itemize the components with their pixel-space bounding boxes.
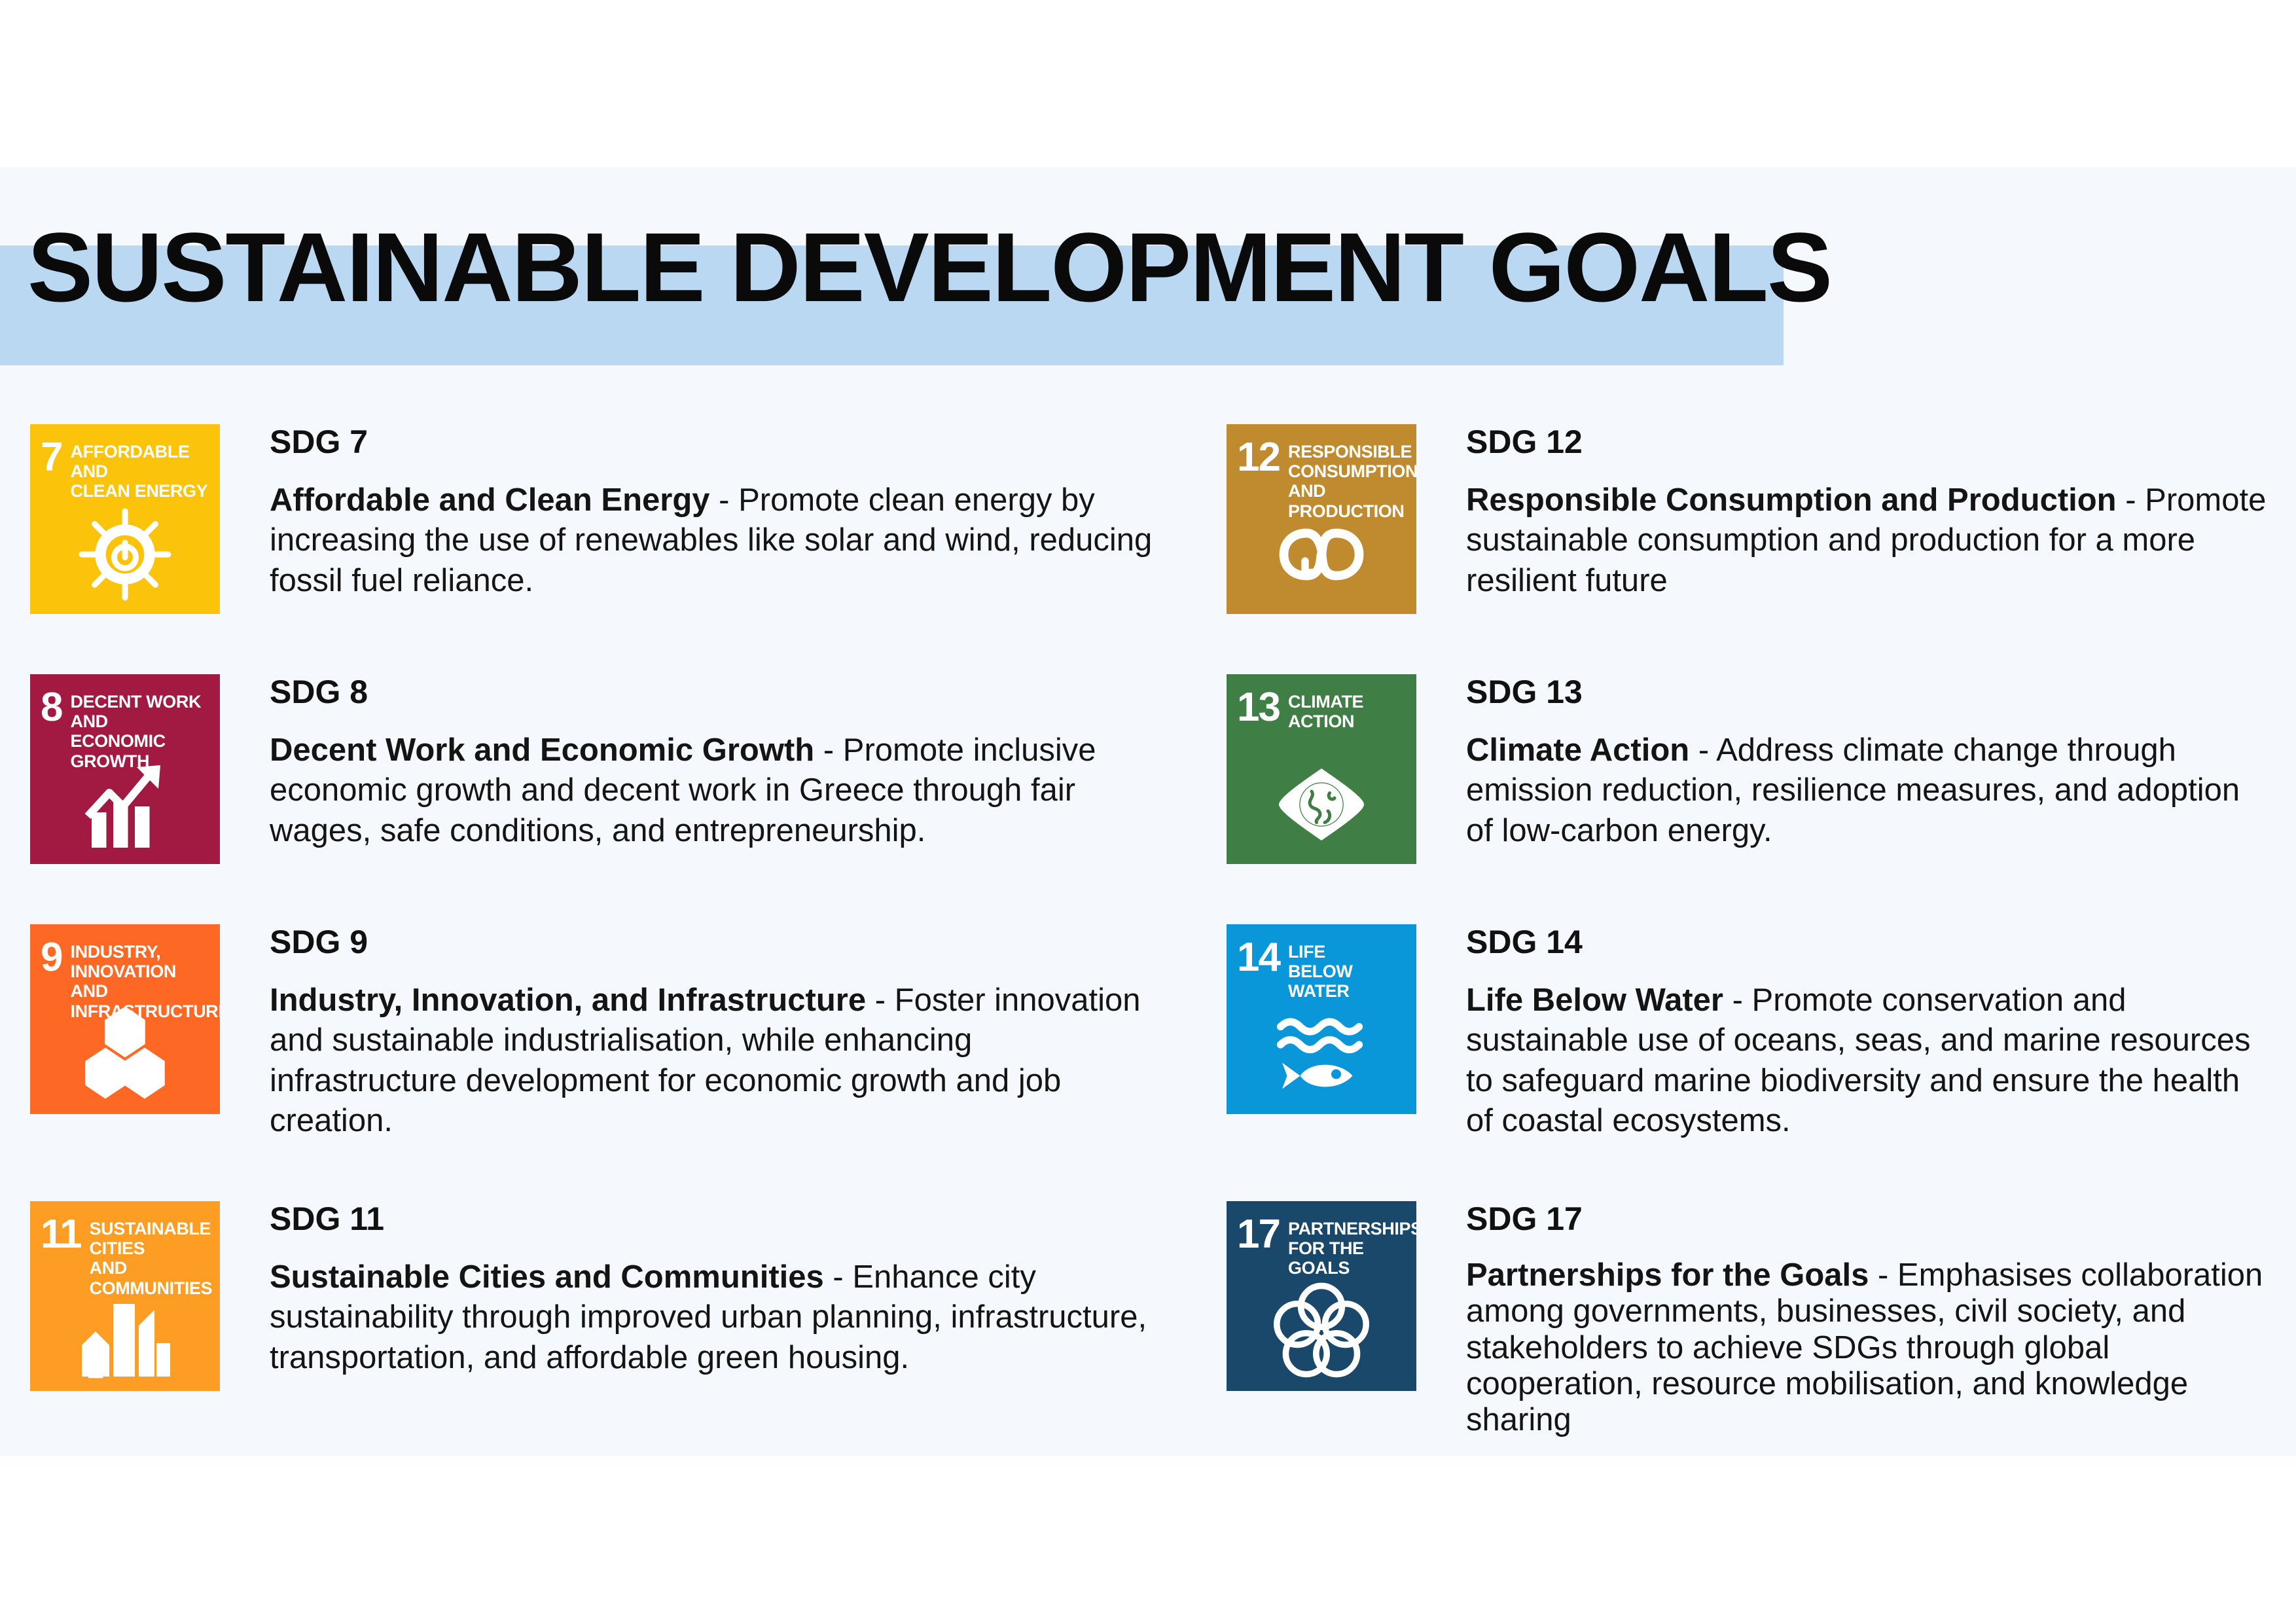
goal-row: 9INDUSTRY, INNOVATION AND INFRASTRUCTURE…: [30, 924, 1156, 1141]
sun-power-icon: [30, 505, 220, 604]
goal-separator: -: [824, 1259, 853, 1295]
goal-separator: -: [2117, 482, 2145, 518]
goal-name: Industry, Innovation, and Infrastructure: [270, 983, 866, 1018]
sdg-icon-number: 17: [1237, 1216, 1280, 1253]
goal-text-block: SDG 14Life Below Water - Promote conserv…: [1416, 924, 2274, 1141]
goal-column-left: 7AFFORDABLE AND CLEAN ENERGY SDG 7Afford…: [30, 424, 1156, 1391]
goal-id: SDG 12: [1466, 425, 2274, 458]
sdg-icon-number: 8: [41, 689, 62, 726]
goal-row: 14LIFE BELOW WATER SDG 14Life Below Wate…: [1227, 924, 2274, 1141]
goal-separator: -: [1723, 983, 1752, 1018]
slide-canvas: SUSTAINABLE DEVELOPMENT GOALS 7AFFORDABL…: [0, 167, 2296, 1456]
sdg-icon-header: 13CLIMATE ACTION: [1237, 689, 1363, 731]
goal-description: Partnerships for the Goals - Emphasises …: [1466, 1257, 2274, 1439]
goal-name: Affordable and Clean Energy: [270, 482, 710, 518]
goal-separator: -: [866, 983, 895, 1018]
sdg-icon-tile-17[interactable]: 17PARTNERSHIPS FOR THE GOALS: [1227, 1201, 1416, 1391]
cubes-icon: [30, 1005, 220, 1104]
goal-name: Life Below Water: [1466, 983, 1723, 1018]
sdg-icon-number: 7: [41, 439, 62, 476]
goal-row: 17PARTNERSHIPS FOR THE GOALS SDG 17Partn…: [1227, 1201, 2274, 1439]
interlocking-rings-icon: [1227, 1282, 1416, 1380]
sdg-icon-label: LIFE BELOW WATER: [1288, 939, 1416, 1001]
goal-row: 8DECENT WORK AND ECONOMIC GROWTH SDG 8De…: [30, 674, 1156, 864]
goal-description: Affordable and Clean Energy - Promote cl…: [270, 480, 1156, 601]
sdg-icon-tile-8[interactable]: 8DECENT WORK AND ECONOMIC GROWTH: [30, 674, 220, 864]
sdg-icon-label: PARTNERSHIPS FOR THE GOALS: [1288, 1216, 1416, 1278]
growth-chart-icon: [30, 755, 220, 854]
goal-id: SDG 17: [1466, 1202, 2274, 1235]
sdg-icon-tile-14[interactable]: 14LIFE BELOW WATER: [1227, 924, 1416, 1114]
goal-row: 13CLIMATE ACTION SDG 13Climate Action - …: [1227, 674, 2274, 864]
goal-description: Industry, Innovation, and Infrastructure…: [270, 981, 1156, 1141]
goal-text-block: SDG 9Industry, Innovation, and Infrastru…: [220, 924, 1156, 1141]
goal-row: 11SUSTAINABLE CITIES AND COMMUNITIES SDG…: [30, 1201, 1156, 1391]
sdg-icon-number: 14: [1237, 939, 1280, 976]
goal-text-block: SDG 12Responsible Consumption and Produc…: [1416, 424, 2274, 601]
goal-description: Responsible Consumption and Production -…: [1466, 480, 2274, 601]
sdg-icon-header: 7AFFORDABLE AND CLEAN ENERGY: [41, 439, 220, 501]
goal-row: 7AFFORDABLE AND CLEAN ENERGY SDG 7Afford…: [30, 424, 1156, 614]
goal-description: Life Below Water - Promote conservation …: [1466, 981, 2274, 1141]
goal-separator: -: [814, 732, 843, 768]
sdg-icon-number: 9: [41, 939, 62, 976]
sdg-icon-header: 17PARTNERSHIPS FOR THE GOALS: [1237, 1216, 1416, 1278]
goal-id: SDG 9: [270, 926, 1156, 958]
sdg-icon-tile-7[interactable]: 7AFFORDABLE AND CLEAN ENERGY: [30, 424, 220, 614]
goal-name: Decent Work and Economic Growth: [270, 732, 814, 768]
goal-id: SDG 14: [1466, 926, 2274, 958]
sdg-icon-tile-12[interactable]: 12RESPONSIBLE CONSUMPTION AND PRODUCTION: [1227, 424, 1416, 614]
sdg-icon-number: 13: [1237, 689, 1280, 726]
city-buildings-icon: [30, 1282, 220, 1380]
goal-text-block: SDG 17Partnerships for the Goals - Empha…: [1416, 1201, 2274, 1439]
goal-description: Sustainable Cities and Communities - Enh…: [270, 1257, 1156, 1378]
sdg-icon-tile-9[interactable]: 9INDUSTRY, INNOVATION AND INFRASTRUCTURE: [30, 924, 220, 1114]
goal-name: Climate Action: [1466, 732, 1689, 768]
goal-separator: -: [1689, 732, 1716, 768]
goal-id: SDG 8: [270, 676, 1156, 708]
sdg-icon-tile-13[interactable]: 13CLIMATE ACTION: [1227, 674, 1416, 864]
page-title: SUSTAINABLE DEVELOPMENT GOALS: [27, 218, 1831, 316]
goal-description: Climate Action - Address climate change …: [1466, 731, 2274, 851]
infinity-loop-icon: [1227, 505, 1416, 604]
sdg-icon-number: 11: [41, 1216, 81, 1253]
goal-text-block: SDG 11Sustainable Cities and Communities…: [220, 1201, 1156, 1378]
goal-row: 12RESPONSIBLE CONSUMPTION AND PRODUCTION…: [1227, 424, 2274, 614]
goal-description: Decent Work and Economic Growth - Promot…: [270, 731, 1156, 851]
sdg-icon-label: AFFORDABLE AND CLEAN ENERGY: [70, 439, 220, 501]
goal-id: SDG 13: [1466, 676, 2274, 708]
goal-text-block: SDG 13Climate Action - Address climate c…: [1416, 674, 2274, 851]
goal-text-block: SDG 7Affordable and Clean Energy - Promo…: [220, 424, 1156, 601]
sdg-icon-tile-11[interactable]: 11SUSTAINABLE CITIES AND COMMUNITIES: [30, 1201, 220, 1391]
goal-id: SDG 7: [270, 425, 1156, 458]
goal-name: Sustainable Cities and Communities: [270, 1259, 824, 1295]
goal-name: Responsible Consumption and Production: [1466, 482, 2117, 518]
sdg-icon-label: CLIMATE ACTION: [1288, 689, 1363, 731]
goal-separator: -: [1869, 1257, 1897, 1293]
goal-name: Partnerships for the Goals: [1466, 1257, 1869, 1293]
eye-globe-icon: [1227, 755, 1416, 854]
sdg-icon-number: 12: [1237, 439, 1280, 476]
sdg-icon-header: 14LIFE BELOW WATER: [1237, 939, 1416, 1001]
waves-fish-icon: [1227, 1005, 1416, 1104]
goal-text-block: SDG 8Decent Work and Economic Growth - P…: [220, 674, 1156, 851]
goal-id: SDG 11: [270, 1202, 1156, 1235]
goal-separator: -: [710, 482, 739, 518]
goal-column-right: 12RESPONSIBLE CONSUMPTION AND PRODUCTION…: [1227, 424, 2274, 1439]
